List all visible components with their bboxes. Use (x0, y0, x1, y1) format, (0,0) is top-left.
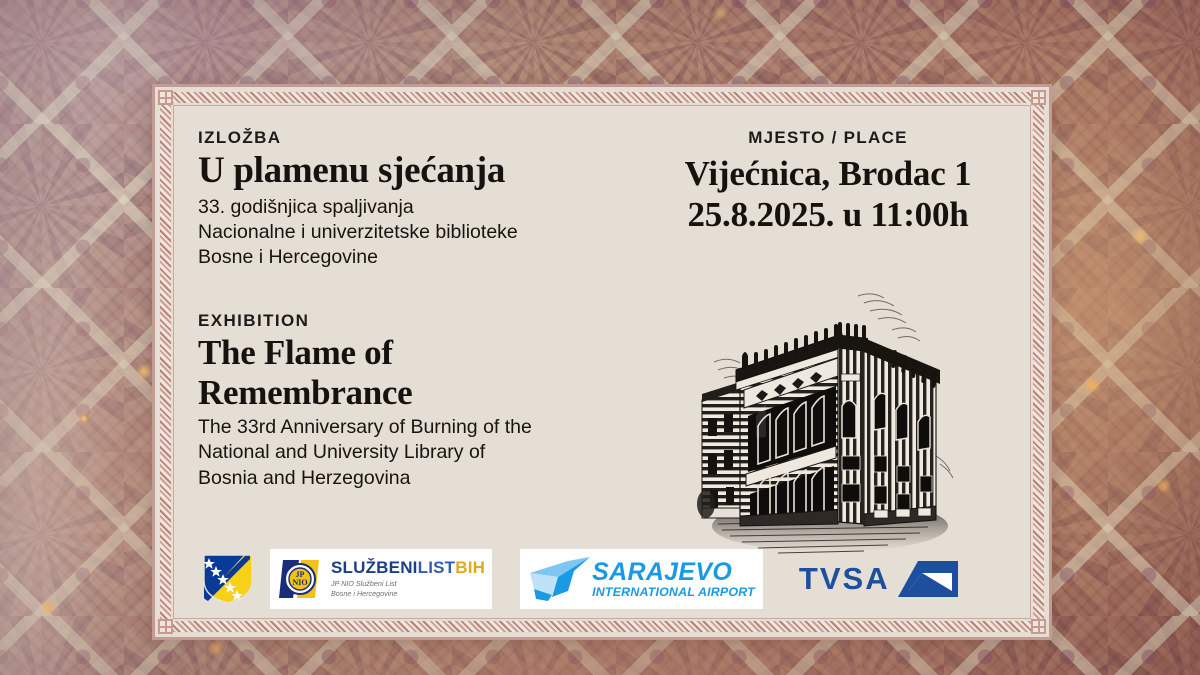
airport-word-1: SARAJEVO (592, 560, 755, 585)
venue-name: Vijećnica, Brodac 1 (648, 154, 1008, 195)
english-block: EXHIBITION The Flame of Remembrance The … (198, 311, 618, 491)
jp-nio-seal-icon: JP NIO (277, 556, 325, 602)
tvsa-wordmark: TVSA (799, 561, 890, 597)
logo-sluzbeni-list-bih: JP NIO SLUŽBENILISTBIH JP NIO Službeni L… (270, 549, 492, 609)
kicker-bosnian: IZLOŽBA (198, 128, 618, 148)
venue-kicker: MJESTO / PLACE (648, 128, 1008, 148)
frame-corner-top-left-icon (158, 90, 173, 105)
logo-tvsa: TVSA (799, 552, 960, 606)
vijecnica-building-engraving-icon (678, 278, 978, 568)
airport-bird-icon (528, 555, 594, 603)
venue-column-right: MJESTO / PLACE Vijećnica, Brodac 1 25.8.… (648, 128, 1008, 235)
logo-coat-of-arms-bosnia (200, 552, 256, 606)
title-english-line-2: Remembrance (198, 375, 618, 411)
sluzbeni-word-1: SLUŽBENI (331, 558, 418, 577)
sluzbeni-word-3: BIH (455, 558, 485, 577)
frame-corner-top-right-icon (1031, 90, 1046, 105)
svg-text:NIO: NIO (292, 578, 307, 587)
subtitle-bosnian-line-3: Bosne i Hercegovine (198, 245, 618, 270)
text-column-left: IZLOŽBA U plamenu sjećanja 33. godišnjic… (198, 128, 618, 491)
airport-word-2: INTERNATIONAL AIRPORT (592, 586, 755, 598)
coat-of-arms-bosnia-herzegovina-icon (200, 553, 256, 605)
subtitle-english-line-3: Bosnia and Herzegovina (198, 466, 618, 491)
kicker-english: EXHIBITION (198, 311, 618, 331)
venue-datetime: 25.8.2025. u 11:00h (648, 195, 1008, 236)
sluzbeni-word-2: LIST (418, 558, 456, 577)
title-english-line-1: The Flame of (198, 335, 618, 371)
tvsa-mark-icon (896, 559, 960, 599)
frame-corner-bottom-right-icon (1031, 619, 1046, 634)
logo-sarajevo-international-airport: SARAJEVO INTERNATIONAL AIRPORT (520, 549, 763, 609)
poster-card: IZLOŽBA U plamenu sjećanja 33. godišnjic… (152, 84, 1052, 640)
frame-corner-bottom-left-icon (158, 619, 173, 634)
subtitle-english-line-1: The 33rd Anniversary of Burning of the (198, 415, 618, 440)
sponsor-logo-strip: JP NIO SLUŽBENILISTBIH JP NIO Službeni L… (200, 550, 960, 608)
subtitle-english-line-2: National and University Library of (198, 440, 618, 465)
title-bosnian: U plamenu sjećanja (198, 152, 618, 190)
poster-root: IZLOŽBA U plamenu sjećanja 33. godišnjic… (0, 0, 1200, 675)
sluzbeni-sub-2: Bosne i Hercegovine (331, 589, 485, 599)
poster-content: IZLOŽBA U plamenu sjećanja 33. godišnjic… (178, 110, 1026, 614)
subtitle-bosnian-line-2: Nacionalne i univerzitetske biblioteke (198, 220, 618, 245)
vijecnica-illustration (648, 278, 1008, 578)
subtitle-bosnian-line-1: 33. godišnjica spaljivanja (198, 195, 618, 220)
sluzbeni-sub-1: JP NIO Službeni List (331, 579, 485, 589)
